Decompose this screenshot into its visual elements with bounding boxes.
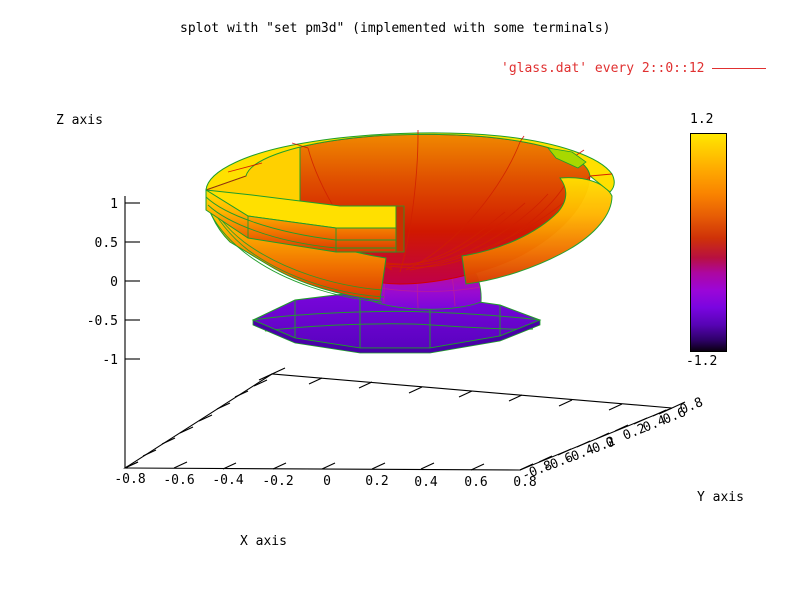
gnuplot-figure: splot with "set pm3d" (implemented with …	[0, 0, 800, 600]
z-tick-label: -0.5	[87, 314, 118, 329]
z-tick-label: 0	[110, 275, 118, 290]
x-tick-labels: -0.8 -0.6 -0.4 -0.2 0 0.2 0.4 0.6 0.8	[114, 472, 536, 490]
plot-canvas: 1 0.5 0 -0.5 -1 -0.8 -0.6 -0.4 -0.2 0 0.…	[0, 0, 800, 600]
x-tick-label: 0	[323, 474, 331, 489]
z-tick-label: 0.5	[95, 236, 118, 251]
x-tick-label: -0.4	[212, 473, 243, 488]
x-tick-label: 0.6	[464, 475, 487, 490]
x-axis-back-ticks	[259, 374, 672, 414]
surface-glass	[206, 130, 614, 353]
x-tick-label: -0.2	[262, 474, 293, 489]
y-axis-back-ticks	[125, 368, 285, 468]
z-tick-labels: 1 0.5 0 -0.5 -1	[87, 197, 118, 368]
z-tick-label: 1	[110, 197, 118, 212]
x-tick-label: -0.6	[163, 473, 194, 488]
z-axis	[125, 196, 140, 468]
x-tick-label: 0.2	[365, 474, 388, 489]
y-tick-label: 0.8	[678, 395, 705, 418]
x-tick-label: 0.4	[414, 475, 438, 490]
x-tick-label: -0.8	[114, 472, 145, 487]
z-tick-label: -1	[102, 353, 118, 368]
